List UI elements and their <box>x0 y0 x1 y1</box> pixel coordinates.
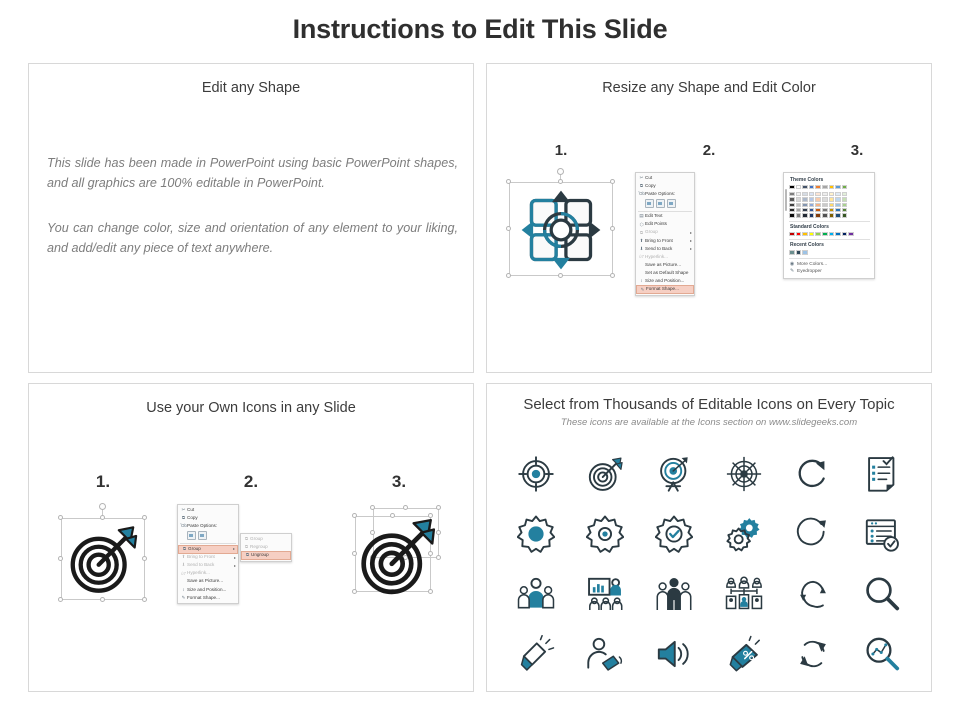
theme-tint-swatch[interactable] <box>796 192 802 196</box>
megaphone-percent-icon[interactable] <box>725 635 763 673</box>
standard-colors-row[interactable] <box>789 232 870 236</box>
menu-item-label: Paste Options: <box>645 191 687 198</box>
menu-item-icon: ▤ <box>638 213 645 220</box>
standard-color-swatch[interactable] <box>802 232 808 236</box>
resize-handle-e[interactable] <box>142 556 147 561</box>
menu-item-copy[interactable]: ⧉Copy <box>636 182 694 190</box>
recent-colors-row[interactable] <box>789 250 870 254</box>
menu-item-icon: ⬆ <box>638 238 645 245</box>
icon-ungrouped-frame[interactable] <box>351 504 447 600</box>
menu-item-label: Group <box>645 229 687 236</box>
theme-tint-swatch[interactable] <box>796 213 802 217</box>
resize-step-figures: ✂Cut⧉CopyὌbPaste Options:▤Edit Text⬡Edit… <box>487 172 931 296</box>
resize-step-numbers: 1. 2. 3. <box>487 142 931 160</box>
resize-handle-nw[interactable] <box>58 515 63 520</box>
menu-item-icon: ↕ <box>638 278 645 285</box>
theme-color-swatch[interactable] <box>835 185 841 189</box>
menu-item-ungroup[interactable]: ⧉Ungroup <box>241 551 291 560</box>
menu-item-label: Size and Position... <box>187 587 231 594</box>
theme-color-swatch[interactable] <box>789 185 795 189</box>
theme-tint-swatch[interactable] <box>815 213 821 217</box>
theme-tint-swatch[interactable] <box>829 208 835 212</box>
theme-color-column[interactable] <box>802 185 808 218</box>
menu-item-icon: Ὄb <box>638 191 645 198</box>
theme-tint-swatch[interactable] <box>789 197 795 201</box>
menu-item-icon: ⧉ <box>243 544 250 551</box>
menu-item-icon: ⬡ <box>638 222 645 229</box>
standard-color-swatch[interactable] <box>809 232 815 236</box>
menu-item-format-shape[interactable]: ✎Format Shape... <box>636 285 694 294</box>
theme-tint-swatch[interactable] <box>789 203 795 207</box>
slide-canvas: Instructions to Edit This Slide Edit any… <box>0 0 960 720</box>
panel-editable-icons: Select from Thousands of Editable Icons … <box>486 383 932 692</box>
submenu-arrow-icon: ▸ <box>231 555 236 561</box>
menu-item-send-to-back[interactable]: ⬇Send to Back▸ <box>636 245 694 253</box>
theme-tint-swatch[interactable] <box>796 203 802 207</box>
menu-item-icon: ὑ7 <box>638 254 645 261</box>
menu-item-regroup[interactable]: ⧉Regroup <box>241 543 291 551</box>
own-icons-step-figures: ✂Cut⧉CopyὌbPaste Options:⧉Group▸⬆Bring t… <box>29 504 473 605</box>
standard-color-swatch[interactable] <box>796 232 802 236</box>
menu-item-icon: ✎ <box>180 595 187 602</box>
theme-tint-swatch[interactable] <box>842 192 848 196</box>
menu-item-label: Group <box>250 536 284 543</box>
more-colors-item[interactable]: ◉ More Colors... <box>789 261 870 268</box>
theme-tint-swatch[interactable] <box>822 208 828 212</box>
menu-item-label: Hyperlink... <box>645 254 687 261</box>
icon-library-grid <box>501 444 917 684</box>
menu-item-label: Set as Default Shape <box>645 270 688 277</box>
theme-tint-swatch[interactable] <box>809 192 815 196</box>
resize-handle-sw[interactable] <box>58 597 63 602</box>
resize-handle-se[interactable] <box>610 273 615 278</box>
theme-tint-swatch[interactable] <box>815 208 821 212</box>
menu-item-save-as-picture[interactable]: Save as Picture... <box>178 578 238 586</box>
menu-item-icon: ⧉ <box>243 536 250 543</box>
menu-item-format-shape[interactable]: ✎Format Shape... <box>178 594 238 602</box>
resize-handle-e[interactable] <box>610 226 615 231</box>
menu-item-label: Save as Picture... <box>645 262 687 269</box>
resize-handle-w[interactable] <box>506 226 511 231</box>
group-context-menu[interactable]: ✂Cut⧉CopyὌbPaste Options:⧉Group▸⬆Bring t… <box>177 504 239 604</box>
checklist-approved-icon[interactable] <box>863 515 901 553</box>
own-icons-step-3-figure <box>325 504 473 605</box>
menu-item-edit-points[interactable]: ⬡Edit Points <box>636 221 694 229</box>
menu-item-label: Size and Position... <box>645 278 687 285</box>
theme-color-column[interactable] <box>835 185 841 218</box>
theme-tint-swatch[interactable] <box>835 208 841 212</box>
standard-color-swatch[interactable] <box>835 232 841 236</box>
theme-colors-grid[interactable] <box>789 185 870 218</box>
standard-color-swatch[interactable] <box>789 232 795 236</box>
submenu-arrow-icon: ▸ <box>230 546 235 552</box>
menu-item-icon: ὑ7 <box>180 571 187 578</box>
menu-item-label: Paste Options: <box>187 523 231 530</box>
dartboard-arrow-ungrouped-icon <box>357 517 439 595</box>
resize-handle-w[interactable] <box>58 556 63 561</box>
menu-item-label: Group <box>188 546 230 553</box>
step-number-2: 2. <box>703 142 716 159</box>
own-icons-step-numbers: 1. 2. 3. <box>29 472 473 492</box>
submenu-arrow-icon: ▸ <box>687 238 692 244</box>
own-icons-step-1-figure <box>29 504 177 605</box>
menu-item-label: Ungroup <box>251 552 283 559</box>
panel-resize-shape-edit-color: Resize any Shape and Edit Color 1. 2. 3. <box>486 63 932 373</box>
theme-tint-swatch[interactable] <box>789 213 795 217</box>
standard-color-swatch[interactable] <box>848 232 854 236</box>
resize-step-2-figure: ✂Cut⧉CopyὌbPaste Options:▤Edit Text⬡Edit… <box>635 172 783 296</box>
gear-small-icon[interactable] <box>586 515 624 553</box>
standard-color-swatch[interactable] <box>829 232 835 236</box>
body-paragraph-2: You can change color, size and orientati… <box>47 219 458 258</box>
theme-tint-swatch[interactable] <box>842 197 848 201</box>
menu-item-icon: ⬇ <box>180 562 187 569</box>
theme-tint-swatch[interactable] <box>842 213 848 217</box>
theme-color-column[interactable] <box>809 185 815 218</box>
theme-color-swatch[interactable] <box>842 185 848 189</box>
standard-colors-heading: Standard Colors <box>790 224 870 230</box>
menu-item-label: Send to Back <box>645 246 687 253</box>
group-submenu[interactable]: ⧉Group⧉Regroup⧉Ungroup <box>240 533 292 562</box>
paste-option-1-icon[interactable] <box>645 199 654 208</box>
theme-tint-swatch[interactable] <box>802 208 808 212</box>
menu-item-copy[interactable]: ⧉Copy <box>178 514 238 522</box>
magnifier-icon[interactable] <box>863 575 901 613</box>
theme-color-column[interactable] <box>822 185 828 218</box>
theme-tint-swatch[interactable] <box>809 197 815 201</box>
checklist-document-icon[interactable] <box>863 455 901 493</box>
edit-shape-body-copy: This slide has been made in PowerPoint u… <box>47 154 458 258</box>
target-stand-icon[interactable] <box>655 455 693 493</box>
dartboard-arrow-icon <box>66 523 140 595</box>
step-number-1: 1. <box>96 472 110 491</box>
menu-item-label: Edit Text <box>645 213 687 220</box>
resize-handle-n[interactable] <box>558 179 563 184</box>
rotate-handle[interactable] <box>99 503 106 510</box>
menu-item-icon: ✂ <box>638 175 645 182</box>
menu-item-icon: ⧉ <box>244 552 251 559</box>
menu-item-label: Format Shape... <box>646 286 686 293</box>
resize-handle-ne[interactable] <box>610 179 615 184</box>
menu-item-label: Regroup <box>250 544 284 551</box>
theme-tint-swatch[interactable] <box>835 197 841 201</box>
menu-item-save-as-picture[interactable]: Save as Picture... <box>636 261 694 269</box>
theme-color-swatch[interactable] <box>796 185 802 189</box>
theme-tint-swatch[interactable] <box>802 213 808 217</box>
panel-subtitle-editable-icons: These icons are available at the Icons s… <box>487 417 931 428</box>
menu-item-label: Send to Back <box>187 562 231 569</box>
menu-item-label: Bring to Front <box>645 238 687 245</box>
standard-color-swatch[interactable] <box>822 232 828 236</box>
resize-handle-s[interactable] <box>558 273 563 278</box>
theme-color-column[interactable] <box>815 185 821 218</box>
megaphone-icon[interactable] <box>517 635 555 673</box>
menu-item-icon: ⧉ <box>180 515 187 522</box>
theme-color-swatch[interactable] <box>822 185 828 189</box>
shape-selection-frame[interactable] <box>509 172 613 276</box>
panel-edit-any-shape: Edit any Shape This slide has been made … <box>28 63 474 373</box>
divider <box>789 239 870 240</box>
menu-item-label: Edit Points <box>645 221 687 228</box>
recent-colors-heading: Recent Colors <box>790 242 870 248</box>
theme-colors-heading: Theme Colors <box>790 177 870 183</box>
theme-color-column[interactable] <box>789 185 795 218</box>
menu-item-icon: ↕ <box>180 587 187 594</box>
divider <box>180 543 236 544</box>
menu-item-cut[interactable]: ✂Cut <box>178 506 238 514</box>
theme-tint-swatch[interactable] <box>802 203 808 207</box>
menu-item-label: Format Shape... <box>187 595 231 602</box>
menu-item-icon: ⧉ <box>638 183 645 190</box>
eyedropper-icon: ✎ <box>789 269 795 274</box>
sub2-handle-n[interactable] <box>403 505 408 510</box>
standard-color-swatch[interactable] <box>842 232 848 236</box>
resize-step-3-figure: Theme Colors Standard Colors Recent Colo… <box>783 172 931 279</box>
paste-option-2-icon[interactable] <box>198 531 207 540</box>
theme-tint-swatch[interactable] <box>822 213 828 217</box>
resize-handle-sw[interactable] <box>506 273 511 278</box>
body-paragraph-1: This slide has been made in PowerPoint u… <box>47 154 458 193</box>
menu-item-hyperlink[interactable]: ὑ7Hyperlink... <box>178 570 238 578</box>
resize-step-1-figure <box>487 172 635 281</box>
sub2-handle-ne[interactable] <box>436 505 441 510</box>
eyedropper-item[interactable]: ✎ Eyedropper <box>789 268 870 275</box>
menu-item-send-to-back[interactable]: ⬇Send to Back▸ <box>178 562 238 570</box>
theme-tint-swatch[interactable] <box>829 197 835 201</box>
resize-handle-ne[interactable] <box>142 515 147 520</box>
crosshair-target-icon[interactable] <box>725 455 763 493</box>
menu-item-paste-options[interactable]: ὌbPaste Options: <box>178 522 238 530</box>
step-number-3: 3. <box>851 142 864 159</box>
divider <box>789 221 870 222</box>
theme-tint-swatch[interactable] <box>809 213 815 217</box>
menu-item-cut[interactable]: ✂Cut <box>636 174 694 182</box>
own-icons-step-2-figure: ✂Cut⧉CopyὌbPaste Options:⧉Group▸⬆Bring t… <box>177 504 325 604</box>
speaker-sound-icon[interactable] <box>655 635 693 673</box>
sync-arrows-icon[interactable] <box>794 575 832 613</box>
menu-item-bring-to-front[interactable]: ⬆Bring to Front▸ <box>636 237 694 245</box>
menu-item-group[interactable]: ⧉Group▸ <box>178 545 238 554</box>
eyedropper-label: Eyedropper <box>797 269 822 274</box>
menu-item-size-and-position[interactable]: ↕Size and Position... <box>178 586 238 594</box>
panel-title-resize-shape: Resize any Shape and Edit Color <box>487 80 931 96</box>
recent-color-swatch[interactable] <box>802 250 808 254</box>
color-picker-dropdown[interactable]: Theme Colors Standard Colors Recent Colo… <box>783 172 875 279</box>
rotate-handle[interactable] <box>557 168 564 175</box>
theme-tint-swatch[interactable] <box>829 192 835 196</box>
theme-color-column[interactable] <box>796 185 802 218</box>
theme-tint-swatch[interactable] <box>822 203 828 207</box>
theme-tint-swatch[interactable] <box>835 192 841 196</box>
theme-tint-swatch[interactable] <box>822 192 828 196</box>
resize-handle-nw[interactable] <box>506 179 511 184</box>
menu-item-paste-options[interactable]: ὌbPaste Options: <box>636 190 694 198</box>
divider <box>789 258 870 259</box>
menu-item-label: Copy <box>187 515 231 522</box>
paste-option-3-icon[interactable] <box>667 199 676 208</box>
rotate-arrows-icon[interactable] <box>794 635 832 673</box>
theme-tint-swatch[interactable] <box>815 203 821 207</box>
menu-item-label: Hyperlink... <box>187 570 231 577</box>
dartboard-arrow-icon[interactable] <box>586 455 624 493</box>
theme-tint-swatch[interactable] <box>802 197 808 201</box>
menu-item-size-and-position[interactable]: ↕Size and Position... <box>636 277 694 285</box>
shape-context-menu[interactable]: ✂Cut⧉CopyὌbPaste Options:▤Edit Text⬡Edit… <box>635 172 695 296</box>
color-picker-scrollbar[interactable] <box>785 189 787 211</box>
submenu-arrow-icon: ▸ <box>687 246 692 252</box>
menu-item-label: Copy <box>645 183 687 190</box>
panel-title-own-icons: Use your Own Icons in any Slide <box>29 400 473 416</box>
theme-tint-swatch[interactable] <box>809 208 815 212</box>
theme-tint-swatch[interactable] <box>802 192 808 196</box>
theme-color-swatch[interactable] <box>809 185 815 189</box>
menu-item-icon: ⧉ <box>181 546 188 553</box>
theme-tint-swatch[interactable] <box>815 197 821 201</box>
circular-arrow-icon[interactable] <box>794 515 832 553</box>
target-crosshair-icon[interactable] <box>517 455 555 493</box>
theme-tint-swatch[interactable] <box>789 192 795 196</box>
sub2-handle-nw[interactable] <box>370 505 375 510</box>
page-title: Instructions to Edit This Slide <box>0 14 960 45</box>
theme-tint-swatch[interactable] <box>789 208 795 212</box>
submenu-arrow-icon: ▸ <box>231 563 236 569</box>
theme-tint-swatch[interactable] <box>815 192 821 196</box>
theme-tint-swatch[interactable] <box>796 208 802 212</box>
menu-item-icon: Ὄb <box>180 523 187 530</box>
theme-color-swatch[interactable] <box>802 185 808 189</box>
resize-handle-n[interactable] <box>100 515 105 520</box>
theme-tint-swatch[interactable] <box>796 197 802 201</box>
step-number-3: 3. <box>392 472 406 491</box>
standard-color-swatch[interactable] <box>815 232 821 236</box>
theme-tint-swatch[interactable] <box>842 203 848 207</box>
panel-use-own-icons: Use your Own Icons in any Slide 1. 2. 3. <box>28 383 474 692</box>
more-colors-label: More Colors... <box>797 262 827 267</box>
theme-color-column[interactable] <box>842 185 848 218</box>
menu-item-hyperlink[interactable]: ὑ7Hyperlink... <box>636 253 694 261</box>
theme-tint-swatch[interactable] <box>829 203 835 207</box>
palette-icon: ◉ <box>789 262 795 267</box>
paste-options-row[interactable] <box>636 198 694 210</box>
menu-item-icon: ✎ <box>639 287 646 294</box>
resize-handle-s[interactable] <box>100 597 105 602</box>
theme-color-column[interactable] <box>829 185 835 218</box>
menu-item-icon: ⬇ <box>638 246 645 253</box>
magnifier-chart-icon[interactable] <box>863 635 901 673</box>
theme-tint-swatch[interactable] <box>835 213 841 217</box>
menu-item-edit-text[interactable]: ▤Edit Text <box>636 213 694 221</box>
menu-item-group[interactable]: ⧉Group▸ <box>636 229 694 237</box>
menu-item-set-as-default-shape[interactable]: Set as Default Shape <box>636 269 694 277</box>
gear-check-icon[interactable] <box>655 515 693 553</box>
paste-options-row[interactable] <box>178 530 238 542</box>
panel-title-editable-icons: Select from Thousands of Editable Icons … <box>487 396 931 413</box>
icon-selection-frame[interactable] <box>61 504 145 600</box>
menu-item-label: Cut <box>187 507 231 514</box>
theme-tint-swatch[interactable] <box>842 208 848 212</box>
menu-item-label: Cut <box>645 175 687 182</box>
menu-item-bring-to-front[interactable]: ⬆Bring to Front▸ <box>178 554 238 562</box>
step-number-1: 1. <box>555 142 568 159</box>
org-chart-team-icon[interactable] <box>725 575 763 613</box>
recent-color-swatch[interactable] <box>796 250 802 254</box>
theme-tint-swatch[interactable] <box>835 203 841 207</box>
divider <box>638 211 692 212</box>
menu-item-icon: ✂ <box>180 507 187 514</box>
presentation-board-icon[interactable] <box>586 575 624 613</box>
submenu-arrow-icon: ▸ <box>687 230 692 236</box>
panel-title-edit-shape: Edit any Shape <box>29 80 473 96</box>
step-number-2: 2. <box>244 472 258 491</box>
theme-tint-swatch[interactable] <box>822 197 828 201</box>
people-group-icon[interactable] <box>517 575 555 613</box>
theme-color-swatch[interactable] <box>829 185 835 189</box>
menu-item-icon: ⬆ <box>180 554 187 561</box>
theme-tint-swatch[interactable] <box>829 213 835 217</box>
team-standing-icon[interactable] <box>655 575 693 613</box>
resize-handle-se[interactable] <box>142 597 147 602</box>
gears-pair-icon[interactable] <box>725 515 763 553</box>
refresh-arrow-icon[interactable] <box>794 455 832 493</box>
four-square-rotate-shape <box>515 189 607 271</box>
theme-tint-swatch[interactable] <box>809 203 815 207</box>
menu-item-label: Bring to Front <box>187 554 231 561</box>
gear-filled-icon[interactable] <box>517 515 555 553</box>
person-announce-icon[interactable] <box>586 635 624 673</box>
recent-color-swatch[interactable] <box>789 250 795 254</box>
menu-item-group[interactable]: ⧉Group <box>241 535 291 543</box>
paste-option-1-icon[interactable] <box>187 531 196 540</box>
paste-option-2-icon[interactable] <box>656 199 665 208</box>
menu-item-label: Save as Picture... <box>187 578 231 585</box>
theme-color-swatch[interactable] <box>815 185 821 189</box>
menu-item-icon: ⧉ <box>638 230 645 237</box>
